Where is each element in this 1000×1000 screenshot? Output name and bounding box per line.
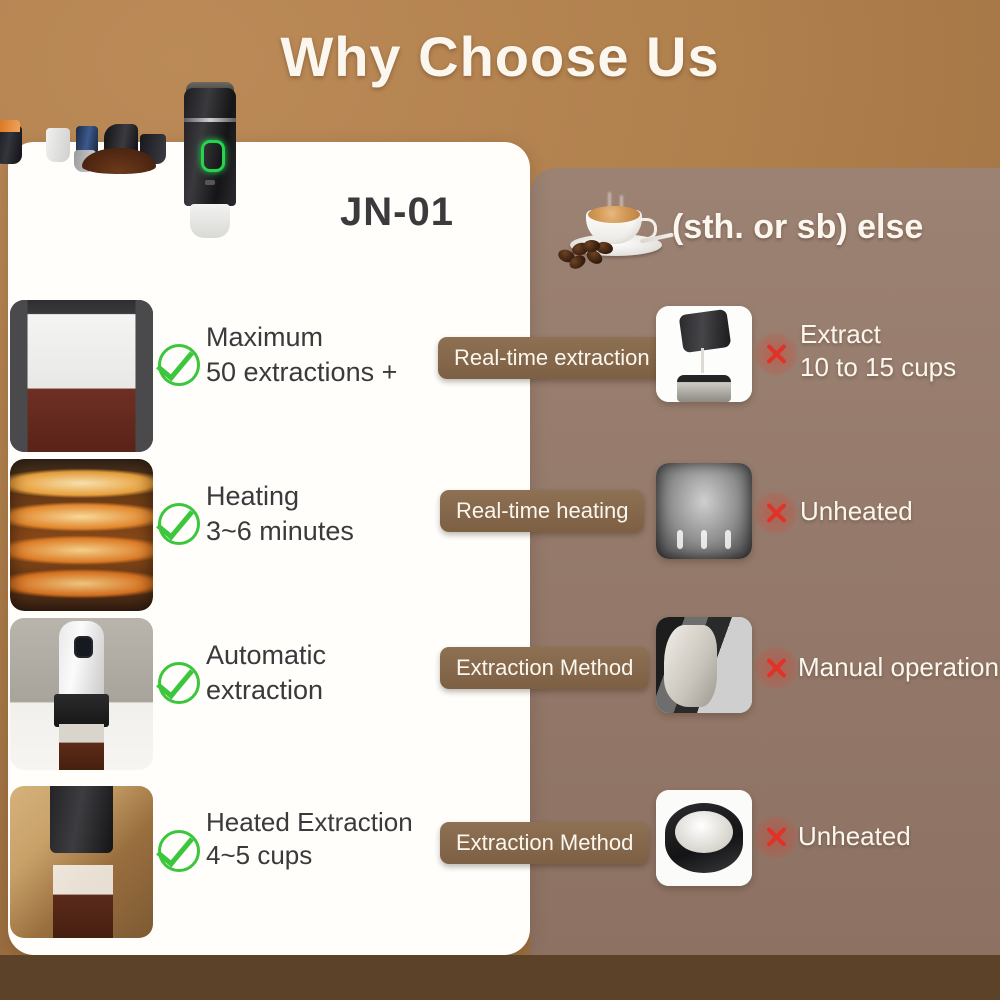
pro-line-1: Automatic [206,638,456,673]
heated-brewing-thumbnail [10,786,153,938]
con-feature-text: Extract 10 to 15 cups [800,318,956,385]
manual-pour-thumbnail [656,306,752,402]
con-line-1: Manual operation [798,651,999,684]
crema-swirl [588,206,640,223]
pro-line-1: Maximum [206,320,456,355]
comparison-row: Heated Extraction 4~5 cups Extraction Me… [0,782,1000,942]
con-feature-text: Unheated [800,495,913,528]
comparison-row: Heating 3~6 minutes Real-time heating Un… [0,455,1000,615]
automatic-machine-thumbnail [10,618,153,770]
pro-feature-text: Maximum 50 extractions + [206,320,456,389]
pro-feature-text: Heating 3~6 minutes [206,479,456,548]
con-line-2: 10 to 15 cups [800,351,956,384]
filter-basket-thumbnail [656,790,752,886]
pod-orange-top [0,120,20,132]
machine-button [205,180,215,185]
feature-badge: Extraction Method [440,647,649,689]
feature-badge: Real-time extraction [438,337,666,379]
coffee-beans-icon [556,240,618,266]
green-check-icon [158,662,200,704]
pro-line-2: extraction [206,673,456,708]
product-model-label: JN-01 [340,190,454,235]
pro-line-2: 3~6 minutes [206,514,456,549]
extraction-cup-thumbnail [10,300,153,452]
red-x-icon [754,815,798,859]
machine-led-icon [201,140,225,172]
green-check-icon [158,503,200,545]
feature-badge: Real-time heating [440,490,644,532]
green-check-icon [158,830,200,872]
machine-ring [184,118,236,122]
hand-pressing-thumbnail [656,617,752,713]
why-choose-us-infographic: Why Choose Us JN-01 [0,0,1000,1000]
con-line-1: Unheated [798,820,911,853]
pro-line-1: Heating [206,479,456,514]
heating-coil-thumbnail [10,459,153,611]
feature-badge: Extraction Method [440,822,649,864]
page-title: Why Choose Us [0,24,1000,89]
con-line-1: Unheated [800,495,913,528]
con-feature-text: Manual operation [798,651,999,684]
pro-line-2: 50 extractions + [206,355,456,390]
pro-feature-text: Automatic extraction [206,638,456,707]
red-x-icon [754,491,798,535]
bottom-strip [0,955,1000,1000]
comparison-row: Automatic extraction Extraction Method M… [0,614,1000,774]
cold-water-thumbnail [656,463,752,559]
green-check-icon [158,344,200,386]
red-x-icon [754,646,798,690]
comparison-row: Maximum 50 extractions + Real-time extra… [0,296,1000,456]
con-feature-text: Unheated [798,820,911,853]
pod-white [46,128,70,162]
competitor-label: (sth. or sb) else [672,208,923,247]
machine-spout [190,204,230,238]
coffee-cup-icon [556,192,674,266]
con-line-1: Extract [800,318,956,351]
red-x-icon [754,332,798,376]
